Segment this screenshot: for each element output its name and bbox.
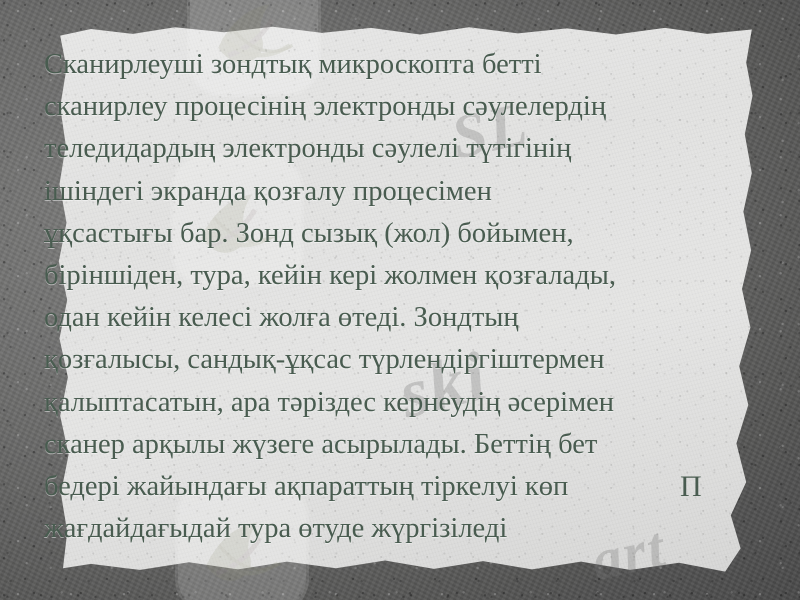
body-line: теледидардың электронды сәулелі түтігіні… <box>44 128 704 170</box>
body-line: қозғалысы, сандық-ұқсас түрлендіргіштерм… <box>44 339 704 381</box>
body-line: біріншіден, тура, кейін кері жолмен қозғ… <box>44 255 704 297</box>
body-line: сканер арқылы жүзеге асырылады. Беттің б… <box>44 424 704 466</box>
body-line: Сканирлеуші зондтық микроскопта бетті <box>44 44 704 86</box>
edge-glyph: П <box>680 470 702 504</box>
body-text-block: Сканирлеуші зондтық микроскопта бетті ск… <box>44 44 704 550</box>
body-line: сканирлеу процесінің электронды сәулелер… <box>44 86 704 128</box>
slide-canvas: SL ski art П Сканирлеуші зондтық микроск… <box>0 0 800 600</box>
body-line: ұқсастығы бар. Зонд сызық (жол) бойымен, <box>44 213 704 255</box>
body-line: одан кейін келесі жолға өтеді. Зондтың <box>44 297 704 339</box>
body-line: қалыптасатын, ара тәріздес кернеудің әсе… <box>44 382 704 424</box>
body-line: ішіндегі экранда қозғалу процесімен <box>44 171 704 213</box>
body-line: бедері жайындағы ақпараттың тіркелуі көп <box>44 466 704 508</box>
body-line: жағдайдағыдай тура өтуде жүргізіледі <box>44 508 704 550</box>
